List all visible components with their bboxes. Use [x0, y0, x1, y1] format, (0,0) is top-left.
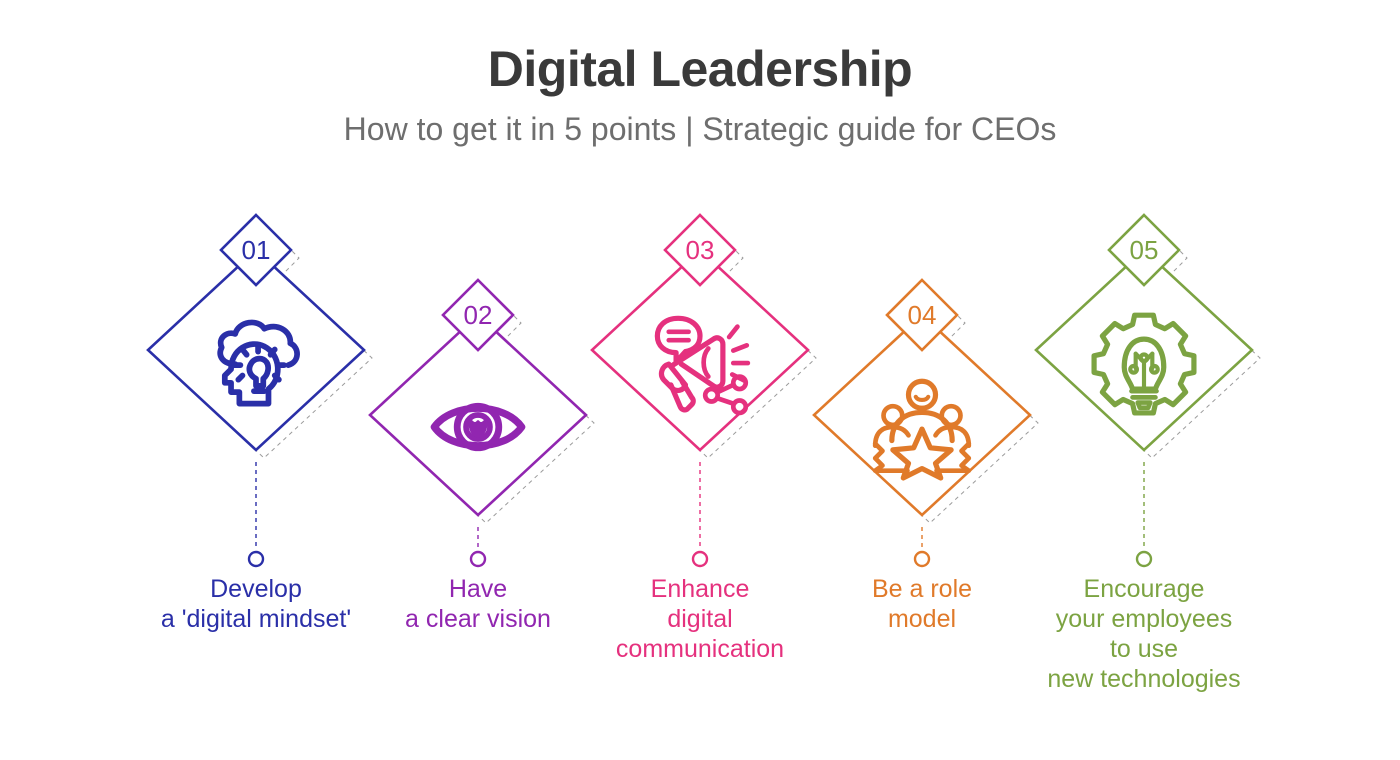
step-caption-03: Enhancedigitalcommunication: [616, 574, 784, 664]
caption-line: a clear vision: [405, 604, 551, 634]
caption-line: Develop: [161, 574, 351, 604]
step-group-05[interactable]: 05: [1036, 215, 1260, 566]
step-group-04[interactable]: 04: [814, 280, 1038, 566]
caption-line: Be a role: [872, 574, 972, 604]
step-number-text: 02: [464, 300, 493, 330]
connector-node[interactable]: [249, 552, 263, 566]
step-group-02[interactable]: 02: [370, 280, 594, 566]
caption-line: Encourage: [1047, 574, 1240, 604]
step-group-01[interactable]: 01: [148, 215, 372, 566]
connector-node[interactable]: [693, 552, 707, 566]
caption-line: Have: [405, 574, 551, 604]
caption-line: a 'digital mindset': [161, 604, 351, 634]
step-caption-05: Encourageyour employeesto usenew technol…: [1047, 574, 1240, 694]
infographic-canvas: Digital Leadership How to get it in 5 po…: [0, 0, 1400, 760]
step-number-text: 04: [908, 300, 937, 330]
step-caption-02: Havea clear vision: [405, 574, 551, 634]
caption-line: model: [872, 604, 972, 634]
caption-line: Enhance: [616, 574, 784, 604]
step-number-text: 01: [242, 235, 271, 265]
caption-line: to use: [1047, 634, 1240, 664]
step-group-03[interactable]: 03: [592, 215, 816, 566]
caption-line: digital: [616, 604, 784, 634]
step-caption-01: Developa 'digital mindset': [161, 574, 351, 634]
caption-line: your employees: [1047, 604, 1240, 634]
caption-line: communication: [616, 634, 784, 664]
step-number-text: 05: [1130, 235, 1159, 265]
caption-line: new technologies: [1047, 664, 1240, 694]
connector-node[interactable]: [915, 552, 929, 566]
step-caption-04: Be a rolemodel: [872, 574, 972, 634]
connector-node[interactable]: [1137, 552, 1151, 566]
step-number-text: 03: [686, 235, 715, 265]
connector-node[interactable]: [471, 552, 485, 566]
